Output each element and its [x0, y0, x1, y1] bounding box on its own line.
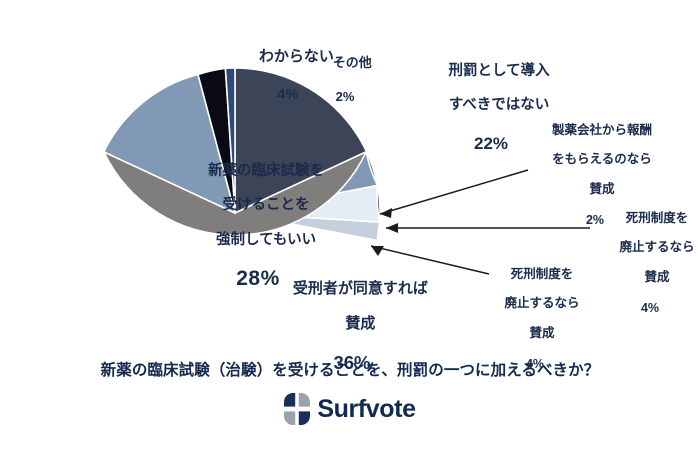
- arrow-shikei-bottom: [371, 246, 384, 256]
- surfvote-logo-icon: [284, 393, 310, 425]
- slice-label-kyosei-line2: 受けることを: [223, 197, 310, 213]
- slice-label-shikei-right-line3: 賛成: [644, 270, 669, 284]
- slice-label-seiyaku-line2: をもらえるのなら: [552, 152, 652, 166]
- slice-pct-shikei-right: 4%: [602, 301, 698, 316]
- slice-label-shikei-bottom-line1: 死刑制度を: [511, 267, 574, 281]
- slice-label-shikei-right-line2: 廃止するなら: [619, 240, 694, 254]
- slice-label-doui-line2: 賛成: [345, 315, 375, 332]
- brand-name: Surfvote: [317, 397, 415, 422]
- slice-label-sonota-text: その他: [333, 55, 372, 70]
- slice-label-shikei-right: 死刑制度を 廃止するなら 賛成 4%: [602, 196, 698, 346]
- slice-label-kyosei-line1: 新薬の臨床試験を: [208, 163, 324, 179]
- slice-label-shikei-right-line1: 死刑制度を: [626, 211, 689, 225]
- slice-label-keibatsu-line1: 刑罰として導入: [449, 63, 550, 79]
- slice-pct-sonota: 2%: [315, 89, 375, 104]
- slice-label-shikei-bottom-line3: 賛成: [529, 326, 554, 340]
- slice-label-seiyaku-line3: 賛成: [589, 182, 614, 196]
- slice-label-seiyaku-line1: 製薬会社から報酬: [552, 123, 652, 137]
- slice-label-shikei-bottom-line2: 廃止するなら: [504, 296, 579, 310]
- slice-label-kyosei-line3: 強制してもいい: [216, 232, 316, 248]
- slice-label-doui-line1: 受刑者が同意すれば: [293, 280, 428, 297]
- chart-caption: 新薬の臨床試験（治験）を受けることを、刑罰の一つに加えるべきか？: [0, 358, 700, 380]
- arrow-shikei-right: [386, 223, 398, 233]
- chart-page: わからない 4% その他 2% 刑罰として導入 すべきではない 22% 製薬会社…: [0, 0, 700, 467]
- slice-label-doui: 受刑者が同意すれば 賛成 36%: [252, 262, 452, 410]
- slice-label-sonota: その他 2%: [315, 40, 375, 135]
- brand-logo: Surfvote: [0, 393, 700, 425]
